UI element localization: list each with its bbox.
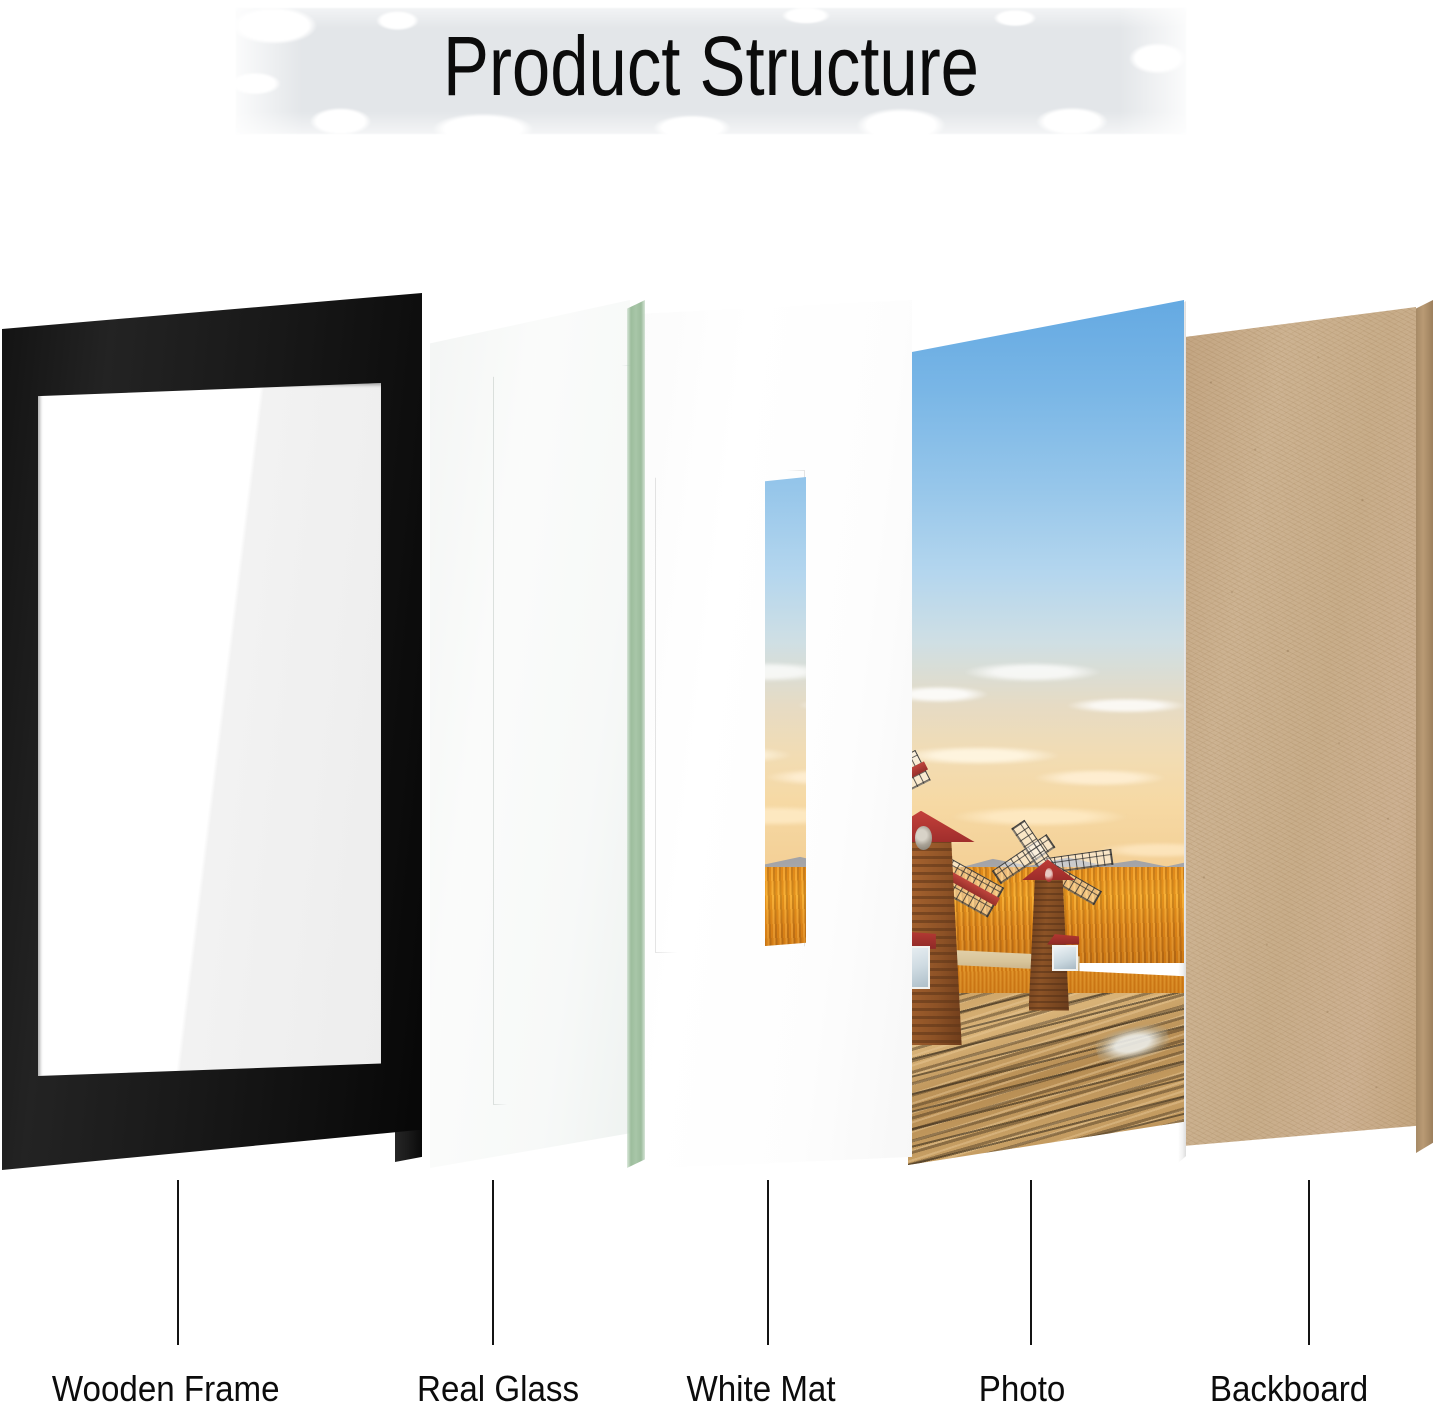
caption-white-mat: White Mat bbox=[686, 1368, 835, 1410]
caption-photo: Photo bbox=[979, 1368, 1066, 1410]
white-mat-cutout bbox=[765, 477, 806, 946]
real-glass-green-edge bbox=[627, 300, 645, 1168]
leader-line-real-glass bbox=[492, 1180, 494, 1345]
windmill-small-icon bbox=[1007, 837, 1091, 1011]
real-glass-inner-reflection bbox=[493, 365, 633, 1105]
leader-line-backboard bbox=[1308, 1180, 1310, 1345]
photo-layer bbox=[908, 300, 1184, 1165]
leader-line-white-mat bbox=[767, 1180, 769, 1345]
windmill-large-icon bbox=[908, 785, 990, 1046]
photo-scene bbox=[908, 300, 1184, 1165]
windmill-hub bbox=[1045, 868, 1053, 882]
caption-real-glass: Real Glass bbox=[417, 1368, 579, 1410]
windmill-window bbox=[1052, 945, 1078, 972]
leader-line-wooden-frame bbox=[177, 1180, 179, 1345]
photo-clouds bbox=[765, 611, 806, 888]
caption-wooden-frame: Wooden Frame bbox=[52, 1368, 280, 1410]
backboard-edge bbox=[1416, 300, 1433, 1153]
backboard-layer bbox=[1183, 307, 1416, 1146]
windmill-hub bbox=[915, 826, 932, 849]
caption-backboard: Backboard bbox=[1210, 1368, 1368, 1410]
mat-cutout-photo-glimpse bbox=[765, 477, 806, 946]
photo-reed-field bbox=[765, 867, 806, 946]
exploded-layer-diagram bbox=[0, 0, 1445, 1419]
leader-line-photo bbox=[1030, 1180, 1032, 1345]
wooden-frame-inner-bevel bbox=[38, 383, 381, 1076]
